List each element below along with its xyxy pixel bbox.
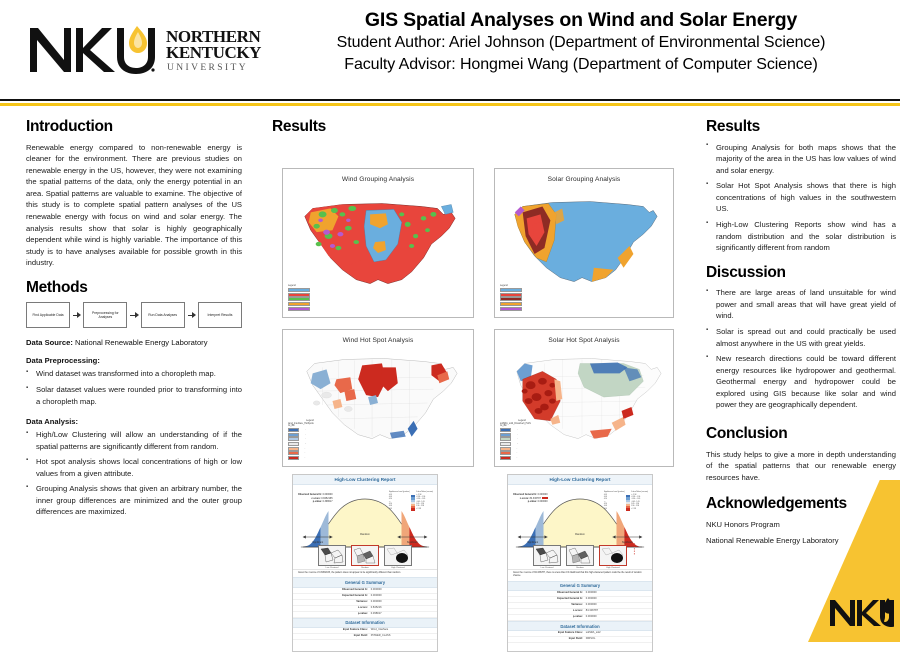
legend-label: Cold Spot - 99% Confidence [512,429,536,431]
legend-label: Not Significant [512,443,524,445]
legend-label: Cold Spot - 95% Confidence [300,434,324,436]
legend-item: Not Significant [500,442,544,446]
legend-item: Hot Spot - 95% Confidence [288,451,332,455]
svg-text:Random: Random [575,532,585,536]
significance-legend: Significance Level (p-value) 0.01 0.05 0… [389,492,433,510]
legend-swatch [500,437,511,441]
row-value: POWER_CLASS [371,634,437,639]
right-column: Results Grouping Analysis for both maps … [706,118,896,553]
flow-step-1: Find Applicable Data [26,302,70,328]
legend-swatch [500,293,522,297]
svg-text:Significant: Significant [312,541,323,544]
thumbnail-low-clustered [533,545,561,566]
figure-solar-grouping[interactable]: Solar Grouping Analysis Legen [494,168,674,318]
row-value: DIRSOL [586,637,652,642]
row-key: Observed General G: [508,591,586,596]
thumb-group: High Clustered [384,545,412,569]
legend-swatch [500,447,511,451]
row-value: 0.845216 [371,606,437,611]
legend-item: Cold Spot - 90% Confidence [288,437,332,441]
legend-swatch [500,433,511,437]
figure-legend: Legend [288,285,310,311]
legend-label: Not Significant [300,443,312,445]
header-divider-gold [0,103,900,106]
significance-colorbar [411,495,415,510]
row-value: solSRA_sol2 [586,631,652,636]
legend-item: Hot Spot - 99% Confidence [500,456,544,460]
legend-swatch [500,297,522,301]
report-note: Given the z-score of 84.336787, there is… [508,569,652,580]
middle-column: Results Wind Grouping Analysis [272,118,684,652]
critical-values: Critical Value (z-score) < -2.58 -2.58 -… [416,492,433,510]
flow-arrow-2 [127,310,140,320]
data-source-line: Data Source: National Renewable Energy L… [26,338,242,347]
legend-swatch [288,433,299,437]
figure-caption: Solar Grouping Analysis [495,169,673,183]
svg-text:Significant: Significant [622,541,633,544]
report-chart: Significant Random Significant Observed … [293,485,437,569]
row-key: Input Feature Class: [508,631,586,636]
thumbnail-label: Low Clustered [533,567,561,569]
significance-colorbar [626,495,630,510]
thumbnail-label: Low Clustered [318,567,346,569]
legend-swatch [288,293,310,297]
list-item: Hot spot analysis shows local concentrat… [26,456,242,479]
list-item: There are large areas of land unsuitable… [706,287,896,322]
conclusion-heading: Conclusion [706,425,896,443]
svg-text:Random: Random [360,532,370,536]
thumb-group: Random [351,545,379,569]
legend-item: Hot Spot - 95% Confidence [500,451,544,455]
flow-step-2: Preprocessing for Analyses [83,302,127,328]
row-key: Input Feature Class: [293,628,371,633]
legend-label: Hot Spot - 99% Confidence [512,457,535,459]
thumbnail-label: Random [566,567,594,569]
results-list: Grouping Analysis for both maps shows th… [706,142,896,254]
title-block: GIS Spatial Analyses on Wind and Solar E… [262,8,900,76]
row-key: Expected General G: [293,594,371,599]
pvalue-label: p-value: [528,500,537,503]
figure-wind-hotspot[interactable]: Wind Hot Spot Analysis [282,329,474,467]
legend-item: Not Significant [288,442,332,446]
legend-item: Cold Spot - 99% Confidence [500,428,544,432]
results-heading: Results [706,118,896,136]
row-value: 84.336787 [586,609,652,614]
map-solar-grouping: Legend [495,183,673,315]
flow-step-4: Interpret Results [198,302,242,328]
report-title: High-Low Clustering Report [293,475,437,485]
row-value: Wind_Interface [371,628,437,633]
figure-legend: Legend [500,285,522,311]
list-item: Solar is spread out and could practicall… [706,326,896,349]
report-title: High-Low Clustering Report [508,475,652,485]
thumbnail-random [351,545,379,566]
list-item: New research directions could be toward … [706,353,896,411]
preprocessing-label: Data Preprocessing: [26,356,242,365]
analysis-list: High/Low Clustering will allow an unders… [26,429,242,518]
thumbnail-label: High Clustered [599,567,627,569]
legend-label: Hot Spot - 90% Confidence [512,448,535,450]
row-key: Expected General G: [508,597,586,602]
report-chart: Significant Random Significant Observed … [508,485,652,569]
row-key: z-score: [293,606,371,611]
sig-level: 0.01 [604,509,625,511]
legend-item: Cold Spot - 95% Confidence [500,433,544,437]
table-row: Input Field:DIRSOL [508,637,652,643]
legend-swatch [500,302,522,306]
row-key: Variance: [508,603,586,608]
introduction-heading: Introduction [26,118,242,136]
legend-label: Cold Spot - 90% Confidence [512,438,536,440]
row-key: Input Field: [508,637,586,642]
list-item: Solar dataset values were rounded prior … [26,384,242,407]
preprocessing-list: Wind dataset was transformed into a chor… [26,368,242,407]
conclusion-text: This study helps to give a more in depth… [706,449,896,484]
row-key: Observed General G: [293,588,371,593]
legend-swatch [500,442,511,446]
thumbnail-label: High Clustered [384,567,412,569]
row-value: 0.000000 [371,588,437,593]
row-value: 0.000000 [371,594,437,599]
legend-swatch [288,447,299,451]
flow-step-3: Run Data Analyses [141,302,185,328]
left-column: Introduction Renewable energy compared t… [26,118,242,524]
legend-swatch [500,288,522,292]
svg-text:Significant: Significant [527,541,538,544]
zscore-marker [542,497,548,499]
figure-wind-grouping[interactable]: Wind Grouping Analysis [282,168,474,318]
significance-levels: Significance Level (p-value) 0.01 0.05 0… [604,492,625,510]
data-source-value: National Renewable Energy Laboratory [73,338,208,347]
legend-swatch [288,451,299,455]
crit-value: > 2.58 [631,509,648,511]
legend-label: Hot Spot - 95% Confidence [300,452,323,454]
significance-levels: Significance Level (p-value) 0.01 0.05 0… [389,492,410,510]
results-figures-heading: Results [272,118,684,136]
legend-swatch [288,288,310,292]
map-wind-grouping: Legend [283,183,473,315]
legend-swatch [288,302,310,306]
report-section-heading: General G Summary [293,577,437,588]
report-section-heading: Dataset Information [293,618,437,629]
header-divider-black [0,99,900,101]
discussion-heading: Discussion [706,264,896,282]
legend-swatch [288,442,299,446]
discussion-list: There are large areas of land unsuitable… [706,287,896,410]
map-solar-hotspot: Legend solSRA_sol2_Dissolve3_HotS Gi_Bin… [495,344,673,464]
legend-item: Cold Spot - 95% Confidence [288,433,332,437]
row-value: 0.000000 [371,600,437,605]
thumb-group: Random [566,545,594,569]
row-value: 0.398017 [371,612,437,617]
pvalue-label: p-value: [313,500,322,503]
legend-swatch [288,297,310,301]
legend-swatch [500,428,511,432]
methods-heading: Methods [26,279,242,297]
table-row: Input Field:POWER_CLASS [293,634,437,640]
figure-caption: Wind Grouping Analysis [283,169,473,183]
legend-swatch [288,428,299,432]
legend-swatch [500,451,511,455]
figure-caption: Wind Hot Spot Analysis [283,330,473,344]
data-source-label: Data Source: [26,338,73,347]
legend-label: Cold Spot - 90% Confidence [300,438,324,440]
thumbnail-low-clustered [318,545,346,566]
pvalue-value: 0.398017 [323,500,333,503]
thumb-group: Low Clustered [533,545,561,569]
report-wind-high-low-clustering[interactable]: High-Low Clustering Report [292,474,438,652]
figure-caption: Solar Hot Spot Analysis [495,330,673,344]
faculty-advisor-line: Faculty Advisor: Hongmei Wang (Departmen… [262,54,900,76]
methods-flowchart: Find Applicable Data Preprocessing for A… [26,302,242,328]
significance-legend: Significance Level (p-value) 0.01 0.05 0… [604,492,648,510]
thumbnail-high-clustered [384,545,412,566]
legend-swatch [500,307,522,311]
map-wind-hotspot: Legend wind_Interface_HotSpots Gi_Bin Co… [283,344,473,464]
student-author-line: Student Author: Ariel Johnson (Departmen… [262,32,900,54]
list-item: Grouping Analysis shows that given an ar… [26,483,242,518]
list-item: Solar Hot Spot Analysis shows that there… [706,180,896,215]
flow-arrow-3 [185,310,198,320]
row-key: Input Field: [293,634,371,639]
analysis-label: Data Analysis: [26,417,242,426]
list-item: Wind dataset was transformed into a chor… [26,368,242,380]
report-stats: Observed General G: 0.000000 z-score: 84… [513,493,548,503]
row-value: 0.000000 [586,597,652,602]
list-item: High/Low Clustering will allow an unders… [26,429,242,452]
crit-value: > 2.58 [416,509,433,511]
legend-label: Hot Spot - 99% Confidence [300,457,323,459]
legend-item: Hot Spot - 90% Confidence [500,447,544,451]
pattern-thumbnails: Low Clustered [293,545,437,569]
legend-label: Cold Spot - 99% Confidence [300,429,324,431]
figure-legend: Legend wind_Interface_HotSpots Gi_Bin Co… [288,420,332,460]
report-note: Given the z-score of 0.8452165, the patt… [293,569,437,577]
legend-label: Hot Spot - 90% Confidence [300,448,323,450]
legend-item: Hot Spot - 90% Confidence [288,447,332,451]
legend-item: Hot Spot - 99% Confidence [288,456,332,460]
report-section-heading: Dataset Information [508,621,652,632]
page-title: GIS Spatial Analyses on Wind and Solar E… [262,8,900,32]
pattern-thumbnails: Low Clustered [508,545,652,569]
svg-text:Significant: Significant [407,541,418,544]
sig-level: 0.01 [389,509,410,511]
row-key: p-value: [293,612,371,617]
legend-swatch [500,456,511,460]
report-solar-high-low-clustering[interactable]: High-Low Clustering Report [507,474,653,652]
row-value: 0.000000 [586,615,652,620]
poster-canvas: NORTHERN KENTUCKY UNIVERSITY GIS Spatial… [0,0,900,642]
row-value: 0.000000 [586,591,652,596]
thumb-group: High Clustered [599,545,627,569]
row-key: p-value: [508,615,586,620]
legend-item: Cold Spot - 90% Confidence [500,437,544,441]
row-key: Variance: [293,600,371,605]
thumbnail-high-clustered [599,545,627,566]
thumb-group: Low Clustered [318,545,346,569]
report-section-heading: General G Summary [508,581,652,592]
row-key: z-score: [508,609,586,614]
nku-corner-mark [828,596,894,630]
figure-solar-hotspot[interactable]: Solar Hot Spot Analysis [494,329,674,467]
legend-swatch [288,437,299,441]
svg-text:UNIVERSITY: UNIVERSITY [167,63,248,73]
nku-logo: NORTHERN KENTUCKY UNIVERSITY [24,20,264,82]
legend-label: Hot Spot - 95% Confidence [512,452,535,454]
list-item: Grouping Analysis for both maps shows th… [706,142,896,177]
report-stats: Observed General G: 0.000000 z-score: 0.… [298,493,333,503]
svg-text:KENTUCKY: KENTUCKY [166,43,261,62]
thumbnail-label: Random [351,567,379,569]
legend-swatch [288,456,299,460]
flow-arrow-1 [70,310,83,320]
introduction-text: Renewable energy compared to non-renewab… [26,142,242,269]
thumbnail-random [566,545,594,566]
poster-header: NORTHERN KENTUCKY UNIVERSITY GIS Spatial… [0,0,900,100]
row-value: 0.000000 [586,603,652,608]
legend-item: Cold Spot - 99% Confidence [288,428,332,432]
figure-grid: Wind Grouping Analysis [272,142,684,652]
legend-label: Cold Spot - 95% Confidence [512,434,536,436]
critical-values: Critical Value (z-score) < -2.58 -2.58 -… [631,492,648,510]
pvalue-value: 0.000000 [538,500,548,503]
list-item: High-Low Clustering Reports show wind ha… [706,219,896,254]
legend-swatch [288,307,310,311]
figure-legend: Legend solSRA_sol2_Dissolve3_HotS Gi_Bin… [500,420,544,460]
